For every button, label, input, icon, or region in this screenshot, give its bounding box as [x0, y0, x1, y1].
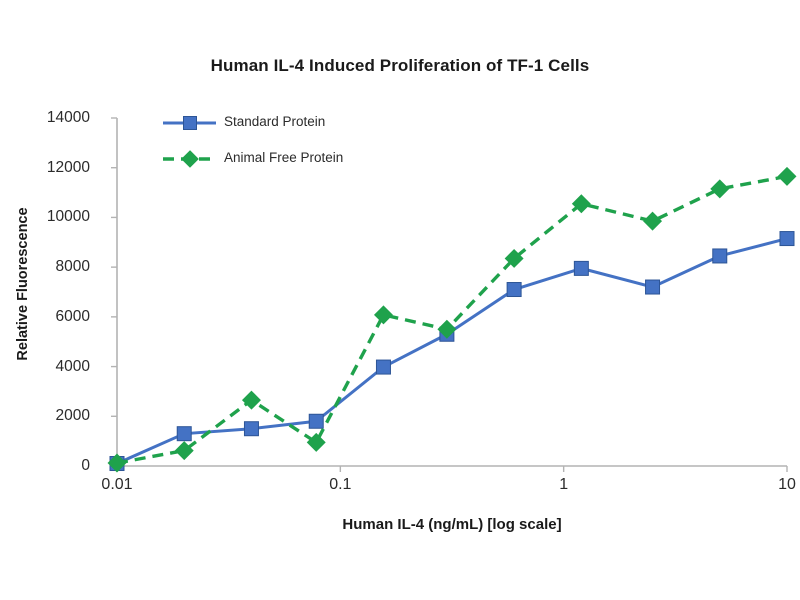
chart-container: Human IL-4 Induced Proliferation of TF-1… [0, 0, 800, 600]
data-point-marker [780, 232, 794, 246]
data-point-marker [376, 360, 390, 374]
legend-label-0: Standard Protein [224, 114, 325, 129]
data-point-marker [244, 422, 258, 436]
legend[interactable] [163, 117, 216, 168]
data-point-marker [646, 280, 660, 294]
legend-label-1: Animal Free Protein [224, 150, 343, 165]
data-point-marker [177, 427, 191, 441]
data-point-marker [644, 212, 662, 230]
plot-area [0, 0, 800, 600]
data-point-marker [375, 306, 393, 324]
data-series-group [108, 168, 796, 472]
series-line-1 [117, 176, 787, 463]
data-point-marker [574, 261, 588, 275]
axis-lines [111, 118, 787, 472]
legend-marker-0 [184, 117, 197, 130]
data-point-marker [309, 414, 323, 428]
data-point-marker [307, 434, 325, 452]
legend-marker-1 [182, 151, 198, 167]
data-point-marker [711, 180, 729, 198]
data-point-marker [713, 249, 727, 263]
series-line-0 [117, 239, 787, 464]
data-point-marker [507, 283, 521, 297]
data-point-marker [778, 168, 796, 186]
data-point-marker [243, 391, 261, 409]
